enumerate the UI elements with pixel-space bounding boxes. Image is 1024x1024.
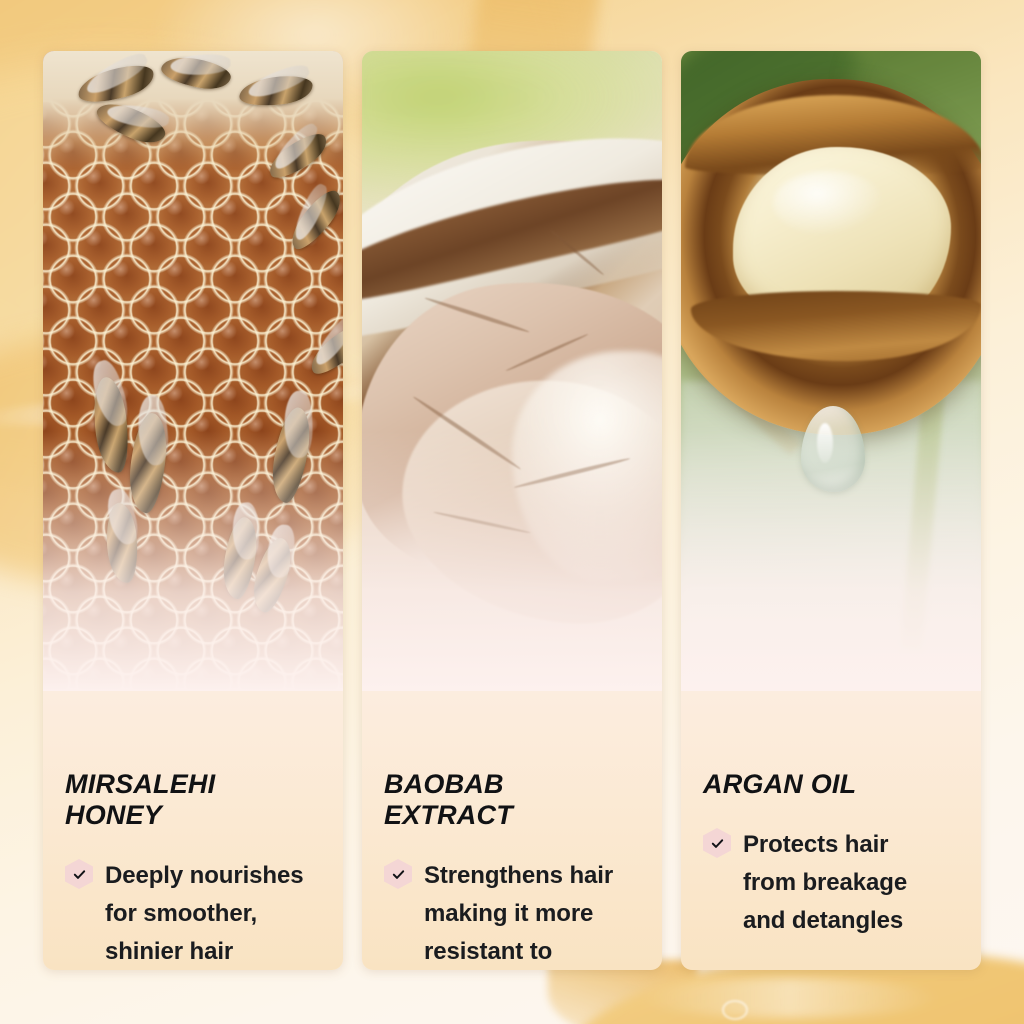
card-text-block: BAOBAB EXTRACT Strengthens hair making i… bbox=[362, 691, 662, 970]
ingredients-infographic: MIRSALEHI HONEY Deeply nourishes for smo… bbox=[0, 0, 1024, 1024]
photo-fade-overlay bbox=[681, 431, 981, 691]
check-icon bbox=[703, 828, 731, 858]
ingredient-title: BAOBAB EXTRACT bbox=[384, 769, 641, 831]
benefit-text: Protects hair from breakage and detangle… bbox=[743, 826, 907, 940]
benefit-row: Protects hair from breakage and detangle… bbox=[703, 826, 960, 940]
benefit-text: Deeply nourishes for smoother, shinier h… bbox=[105, 857, 303, 970]
benefit-row: Strengthens hair making it more resistan… bbox=[384, 857, 641, 970]
photo-fade-overlay bbox=[362, 431, 662, 691]
check-icon bbox=[384, 859, 412, 889]
argan-kernel-highlight bbox=[773, 171, 883, 235]
card-text-block: MIRSALEHI HONEY Deeply nourishes for smo… bbox=[43, 691, 343, 970]
honeycomb-photo bbox=[43, 51, 343, 691]
ingredient-card-honey[interactable]: MIRSALEHI HONEY Deeply nourishes for smo… bbox=[43, 51, 343, 970]
ingredient-title: MIRSALEHI HONEY bbox=[65, 769, 322, 831]
benefit-row: Deeply nourishes for smoother, shinier h… bbox=[65, 857, 322, 970]
argan-photo bbox=[681, 51, 981, 691]
honey-pool-bubble bbox=[722, 1000, 748, 1020]
honey-pool-highlight bbox=[640, 978, 940, 1018]
ingredient-card-argan[interactable]: ARGAN OIL Protects hair from breakage an… bbox=[681, 51, 981, 970]
photo-fade-overlay bbox=[43, 431, 343, 691]
card-text-block: ARGAN OIL Protects hair from breakage an… bbox=[681, 691, 981, 940]
benefit-text: Strengthens hair making it more resistan… bbox=[424, 857, 613, 970]
ingredient-title: ARGAN OIL bbox=[703, 769, 960, 800]
check-icon bbox=[65, 859, 93, 889]
ingredient-card-list: MIRSALEHI HONEY Deeply nourishes for smo… bbox=[43, 51, 981, 970]
ingredient-card-baobab[interactable]: BAOBAB EXTRACT Strengthens hair making i… bbox=[362, 51, 662, 970]
baobab-photo bbox=[362, 51, 662, 691]
